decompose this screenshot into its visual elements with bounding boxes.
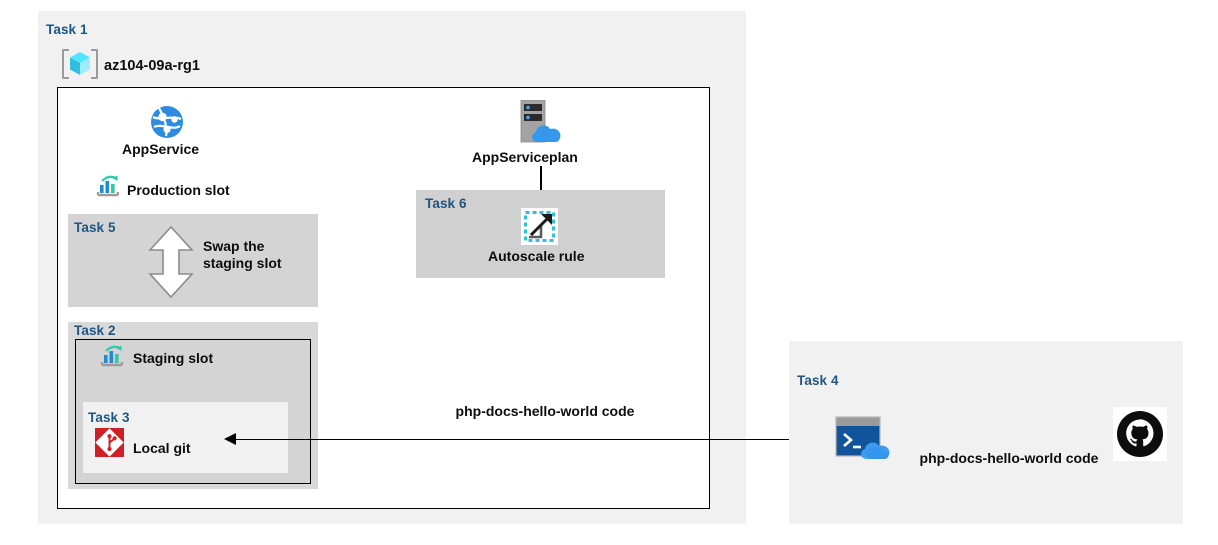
code-flow-right-label: php-docs-hello-world code bbox=[912, 449, 1106, 468]
swap-double-arrow-icon bbox=[148, 226, 194, 298]
app-service-label: AppService bbox=[122, 141, 199, 157]
code-flow-middle-label: php-docs-hello-world code bbox=[449, 402, 641, 421]
production-slot-label: Production slot bbox=[127, 182, 230, 198]
git-icon bbox=[95, 428, 124, 457]
autoscale-rule-icon bbox=[521, 208, 558, 245]
resource-group-cube-icon bbox=[62, 48, 98, 80]
task5-label: Task 5 bbox=[74, 220, 116, 235]
app-service-plan-label: AppServiceplan bbox=[472, 149, 578, 165]
staging-slot-label: Staging slot bbox=[133, 350, 213, 366]
task1-label: Task 1 bbox=[46, 22, 88, 37]
local-git-label: Local git bbox=[133, 440, 191, 456]
cloud-shell-icon bbox=[834, 415, 900, 462]
app-service-plan-server-cloud-icon bbox=[513, 100, 571, 147]
deployment-slot-icon-production bbox=[96, 175, 120, 197]
github-octocat-icon bbox=[1113, 407, 1167, 461]
diagram-canvas: Task 1 az104-09a-rg1 AppService bbox=[0, 0, 1218, 545]
task4-label: Task 4 bbox=[797, 373, 839, 388]
task3-label: Task 3 bbox=[88, 410, 130, 425]
swap-staging-slot-label: Swap the staging slot bbox=[203, 238, 315, 272]
autoscale-rule-label: Autoscale rule bbox=[488, 248, 584, 264]
deployment-slot-icon-staging bbox=[100, 345, 124, 367]
resource-group-name: az104-09a-rg1 bbox=[104, 58, 200, 74]
arrowhead-left-icon bbox=[224, 432, 236, 446]
task2-label: Task 2 bbox=[74, 323, 116, 338]
app-service-globe-icon bbox=[150, 105, 184, 139]
task6-label: Task 6 bbox=[425, 196, 467, 211]
